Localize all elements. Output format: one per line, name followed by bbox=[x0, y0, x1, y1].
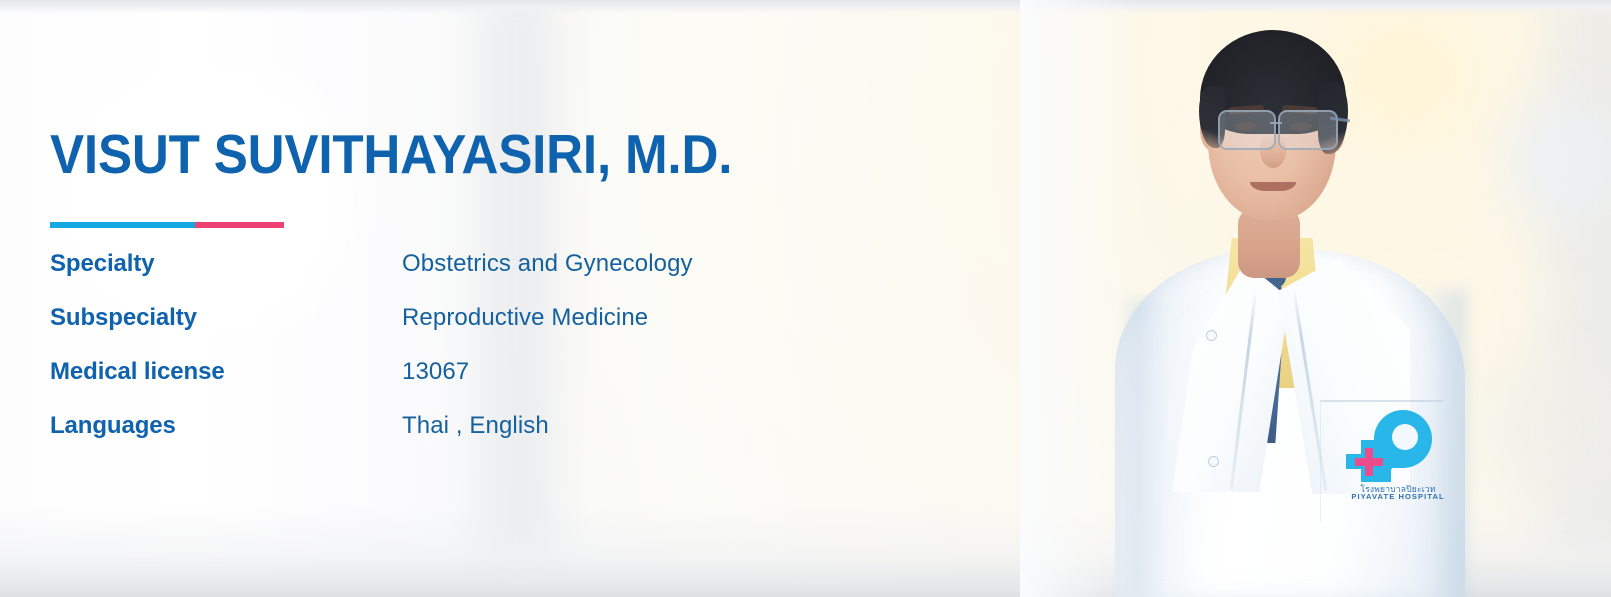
logo-p-counter-icon bbox=[1392, 424, 1418, 450]
piyavate-hospital-logo: โรงพยาบาลปิยะเวท PIYAVATE HOSPITAL bbox=[1344, 410, 1452, 500]
logo-name-english: PIYAVATE HOSPITAL bbox=[1344, 492, 1452, 501]
accent-divider-pink-segment bbox=[195, 222, 284, 228]
info-label-medical-license: Medical license bbox=[50, 358, 402, 412]
table-row: Specialty Obstetrics and Gynecology bbox=[50, 250, 693, 304]
portrait-edge-fade bbox=[1020, 0, 1140, 597]
info-label-specialty: Specialty bbox=[50, 250, 402, 304]
doctor-profile-banner: โรงพยาบาลปิยะเวท PIYAVATE HOSPITAL VISUT… bbox=[0, 0, 1611, 597]
eyeglasses-bridge bbox=[1270, 122, 1282, 124]
info-value-specialty: Obstetrics and Gynecology bbox=[402, 250, 693, 304]
eyeglasses-lens-left bbox=[1218, 110, 1276, 150]
info-value-languages: Thai , English bbox=[402, 412, 693, 466]
eyeglasses-lens-right bbox=[1278, 110, 1338, 150]
info-label-languages: Languages bbox=[50, 412, 402, 466]
table-row: Subspecialty Reproductive Medicine bbox=[50, 304, 693, 358]
table-row: Languages Thai , English bbox=[50, 412, 693, 466]
coat-button bbox=[1208, 456, 1219, 467]
table-row: Medical license 13067 bbox=[50, 358, 693, 412]
coat-button bbox=[1206, 330, 1217, 341]
info-value-medical-license: 13067 bbox=[402, 358, 693, 412]
logo-cross-pink-vertical-icon bbox=[1365, 448, 1373, 476]
info-label-subspecialty: Subspecialty bbox=[50, 304, 402, 358]
doctor-info-table: Specialty Obstetrics and Gynecology Subs… bbox=[50, 250, 693, 466]
doctor-portrait: โรงพยาบาลปิยะเวท PIYAVATE HOSPITAL bbox=[1020, 0, 1490, 597]
doctor-name: VISUT SUVITHAYASIRI, M.D. bbox=[50, 126, 732, 184]
doctor-info-block: VISUT SUVITHAYASIRI, M.D. Specialty Obst… bbox=[50, 126, 784, 466]
info-value-subspecialty: Reproductive Medicine bbox=[402, 304, 693, 358]
accent-divider bbox=[50, 222, 284, 228]
accent-divider-cyan-segment bbox=[50, 222, 195, 228]
